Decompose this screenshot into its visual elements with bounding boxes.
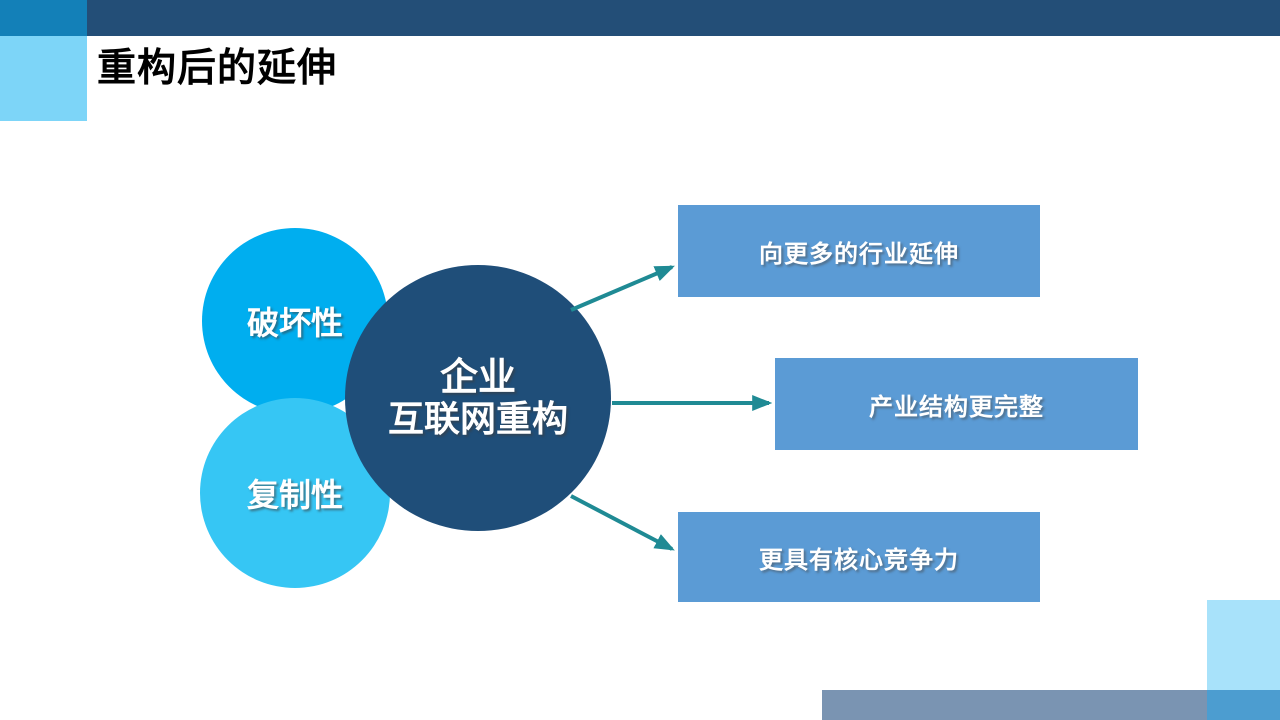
arrow-to-outcome-3 <box>571 496 672 549</box>
connector-arrows <box>0 0 1280 720</box>
slide-canvas: 重构后的延伸 破坏性 复制性 企业 互联网重构 向更多的行业延伸 产业结构更完整… <box>0 0 1280 720</box>
arrow-to-outcome-1 <box>571 267 672 310</box>
